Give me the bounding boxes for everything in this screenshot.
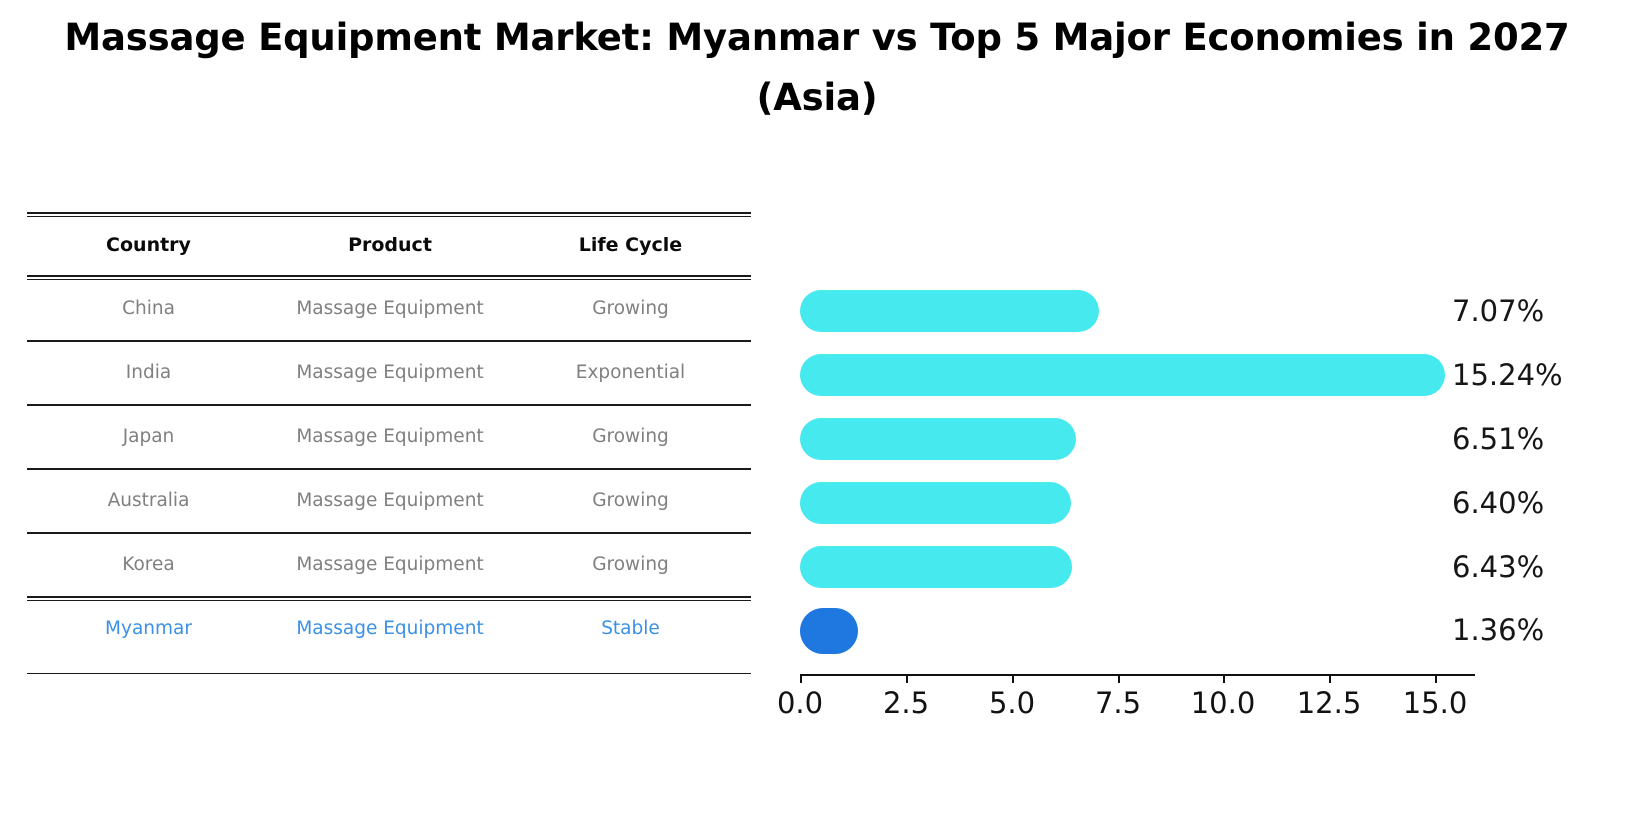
bar-japan[interactable] bbox=[800, 418, 1076, 460]
table-rule-row bbox=[27, 596, 751, 598]
cell-life-cycle: Growing bbox=[510, 490, 751, 511]
bar-value-japan: 6.51% bbox=[1452, 422, 1544, 456]
cell-country: Korea bbox=[27, 554, 270, 575]
cell-life-cycle: Growing bbox=[510, 298, 751, 319]
chart-container: Massage Equipment Market: Myanmar vs Top… bbox=[0, 0, 1634, 823]
cell-country: Japan bbox=[27, 426, 270, 447]
x-tick-label-3: 7.5 bbox=[1095, 686, 1141, 720]
table-rule-header-bottom bbox=[27, 275, 751, 277]
x-tick-label-0: 0.0 bbox=[777, 686, 823, 720]
cell-product: Massage Equipment bbox=[270, 618, 510, 639]
table-header-life-cycle: Life Cycle bbox=[510, 234, 751, 256]
table-rule-row-inner bbox=[27, 600, 751, 601]
bar-value-china: 7.07% bbox=[1452, 294, 1544, 328]
table-rule-top-inner bbox=[27, 216, 751, 217]
table-rule-row bbox=[27, 532, 751, 534]
title-line-1: Massage Equipment Market: Myanmar vs Top… bbox=[64, 16, 1569, 59]
bar-myanmar[interactable] bbox=[800, 608, 858, 654]
x-tick-label-5: 12.5 bbox=[1297, 686, 1362, 720]
x-tick-4 bbox=[1223, 674, 1225, 683]
cell-product: Massage Equipment bbox=[270, 298, 510, 319]
bar-korea[interactable] bbox=[800, 546, 1072, 588]
x-tick-1 bbox=[906, 674, 908, 683]
cell-product: Massage Equipment bbox=[270, 490, 510, 511]
bar-china[interactable] bbox=[800, 290, 1099, 332]
x-axis-line bbox=[800, 674, 1475, 676]
x-tick-5 bbox=[1329, 674, 1331, 683]
cell-product: Massage Equipment bbox=[270, 362, 510, 383]
bar-value-australia: 6.40% bbox=[1452, 486, 1544, 520]
table-header-product: Product bbox=[270, 234, 510, 256]
table-rule-row bbox=[27, 468, 751, 470]
bar-australia[interactable] bbox=[800, 482, 1071, 524]
bar-india[interactable] bbox=[800, 354, 1445, 396]
x-tick-6 bbox=[1435, 674, 1437, 683]
bar-value-korea: 6.43% bbox=[1452, 550, 1544, 584]
x-tick-0 bbox=[800, 674, 802, 683]
x-tick-3 bbox=[1118, 674, 1120, 683]
cell-country: Myanmar bbox=[27, 618, 270, 639]
table-rule-top bbox=[27, 212, 751, 214]
x-tick-label-4: 10.0 bbox=[1191, 686, 1256, 720]
cell-life-cycle: Growing bbox=[510, 426, 751, 447]
cell-product: Massage Equipment bbox=[270, 426, 510, 447]
table-rule-bottom bbox=[27, 673, 751, 674]
table-header-country: Country bbox=[27, 234, 270, 256]
bar-value-india: 15.24% bbox=[1452, 358, 1563, 392]
cell-country: India bbox=[27, 362, 270, 383]
x-tick-2 bbox=[1012, 674, 1014, 683]
cell-product: Massage Equipment bbox=[270, 554, 510, 575]
cell-life-cycle: Stable bbox=[510, 618, 751, 639]
bar-value-myanmar: 1.36% bbox=[1452, 613, 1544, 647]
table-rule-row bbox=[27, 404, 751, 406]
cell-life-cycle: Growing bbox=[510, 554, 751, 575]
table-rule-header-bottom-inner bbox=[27, 279, 751, 280]
x-tick-label-2: 5.0 bbox=[989, 686, 1035, 720]
cell-life-cycle: Exponential bbox=[510, 362, 751, 383]
country-table: Country Product Life Cycle China Massage… bbox=[27, 212, 751, 686]
cell-country: Australia bbox=[27, 490, 270, 511]
x-tick-label-1: 2.5 bbox=[883, 686, 929, 720]
page-title: Massage Equipment Market: Myanmar vs Top… bbox=[0, 8, 1634, 128]
title-line-2: (Asia) bbox=[0, 68, 1634, 128]
table-rule-row bbox=[27, 340, 751, 342]
x-tick-label-6: 15.0 bbox=[1403, 686, 1468, 720]
cell-country: China bbox=[27, 298, 270, 319]
